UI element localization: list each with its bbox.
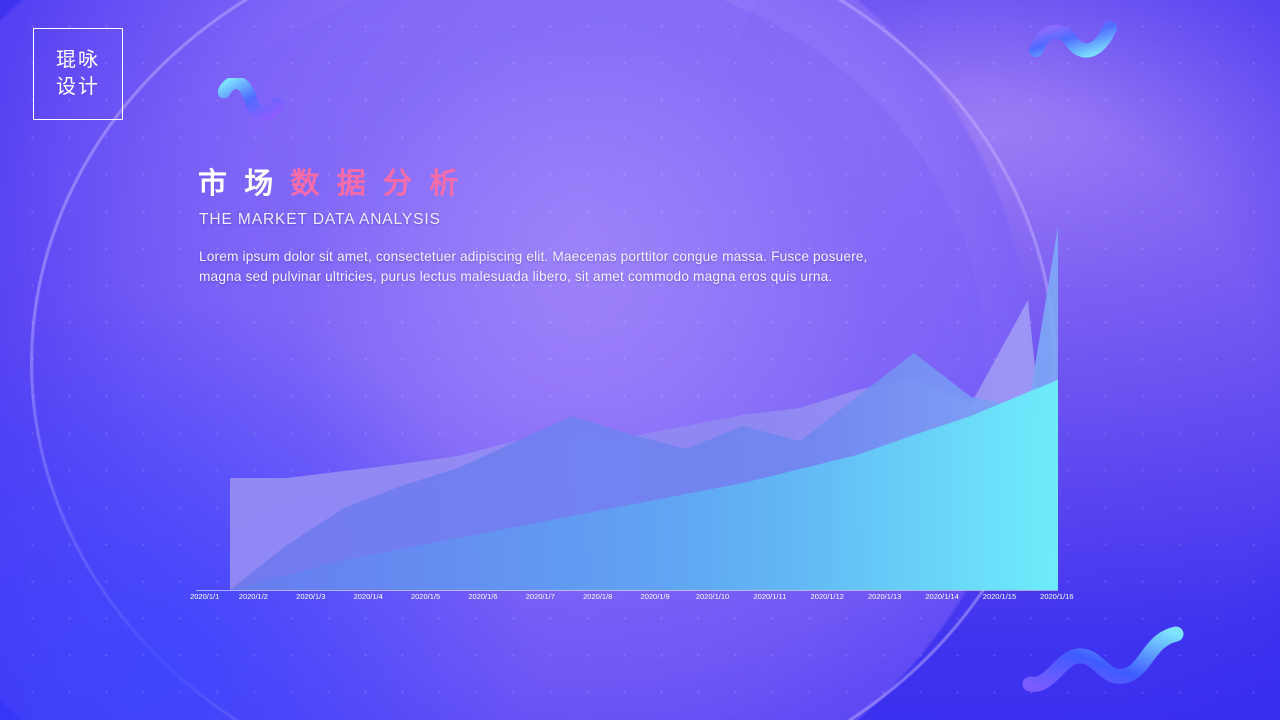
chart-x-axis: 2020/1/12020/1/22020/1/32020/1/42020/1/5…: [196, 590, 1058, 606]
squiggle-icon: [218, 78, 298, 143]
x-axis-tick: 2020/1/13: [856, 592, 913, 606]
slide-canvas: 琨咏 设计: [0, 0, 1280, 720]
x-axis-tick: 2020/1/5: [397, 592, 454, 606]
brand-logo-line1: 琨咏: [56, 47, 100, 74]
x-axis-tick: 2020/1/12: [799, 592, 856, 606]
x-axis-tick: 2020/1/8: [569, 592, 626, 606]
page-title: 市 场 数 据 分 析: [198, 160, 463, 202]
x-axis-tick: 2020/1/11: [741, 592, 798, 606]
x-axis-tick: 2020/1/7: [512, 592, 569, 606]
squiggle-icon: [1028, 8, 1138, 83]
squiggle-icon: [1020, 618, 1200, 713]
x-axis-tick: 2020/1/9: [626, 592, 683, 606]
brand-logo-line2: 设计: [56, 74, 100, 101]
x-axis-tick: 2020/1/15: [971, 592, 1028, 606]
brand-logo: 琨咏 设计: [33, 28, 123, 120]
body-paragraph: Lorem ipsum dolor sit amet, consectetuer…: [199, 247, 879, 286]
x-axis-tick: 2020/1/14: [913, 592, 970, 606]
x-axis-tick: 2020/1/10: [684, 592, 741, 606]
page-subtitle: THE MARKET DATA ANALYSIS: [199, 211, 441, 229]
axis-line: [196, 590, 1058, 591]
x-axis-tick-labels: 2020/1/12020/1/22020/1/32020/1/42020/1/5…: [196, 592, 1058, 606]
page-title-part2: 数 据 分 析: [291, 168, 464, 200]
x-axis-tick: 2020/1/2: [225, 592, 282, 606]
x-axis-tick: 2020/1/16: [1028, 592, 1085, 606]
page-title-part1: 市 场: [198, 168, 291, 200]
x-axis-tick: 2020/1/3: [282, 592, 339, 606]
x-axis-tick: 2020/1/4: [339, 592, 396, 606]
x-axis-tick: 2020/1/6: [454, 592, 511, 606]
